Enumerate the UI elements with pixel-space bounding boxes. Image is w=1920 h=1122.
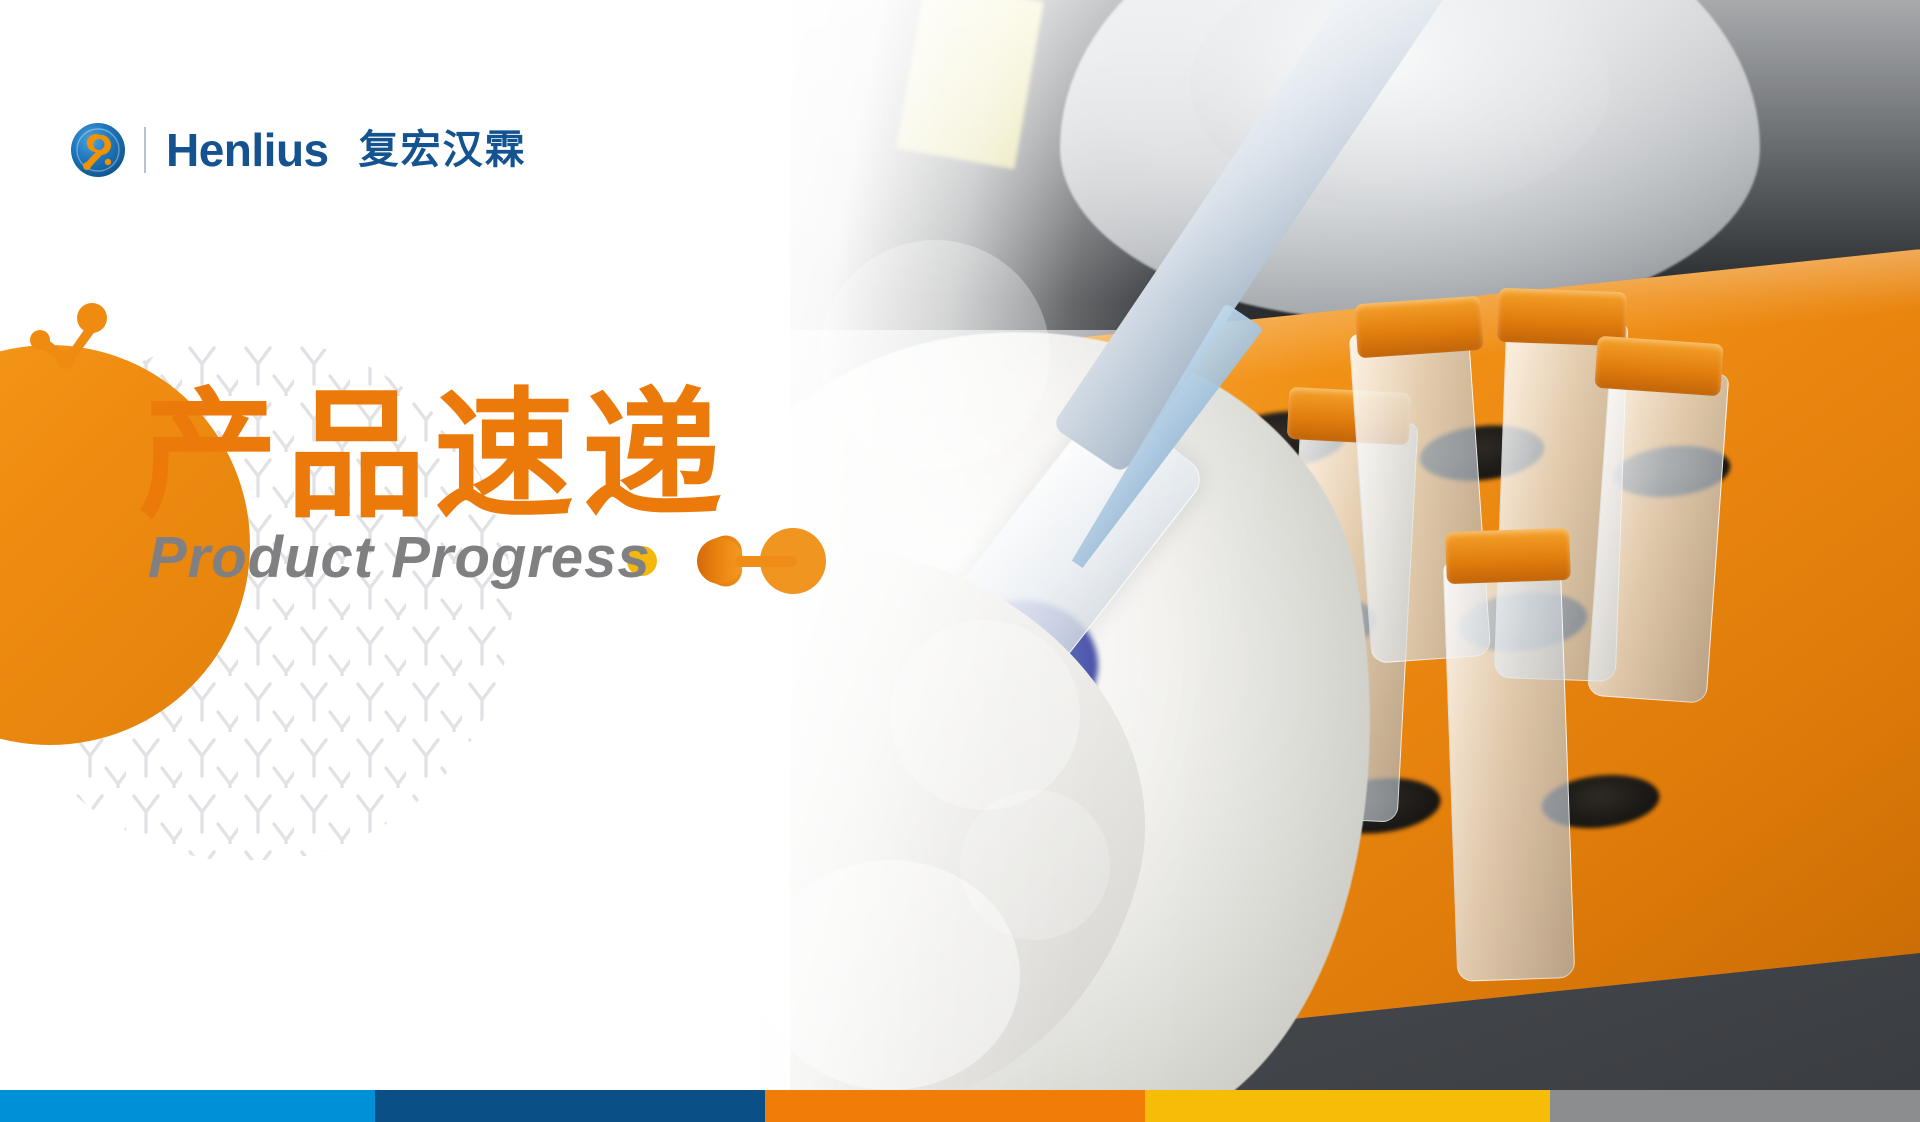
molecule-icon xyxy=(28,300,114,372)
lab-photo: Block xyxy=(760,0,1920,1090)
presentation-slide: Block xyxy=(0,0,1920,1122)
color-bar-segment xyxy=(1550,1090,1920,1122)
henlius-circle-mark-icon xyxy=(70,122,126,178)
bottom-color-bar xyxy=(0,1090,1920,1122)
color-bar-segment xyxy=(1145,1090,1550,1122)
logo-divider xyxy=(144,127,146,173)
color-bar-segment xyxy=(375,1090,765,1122)
photo-top-fade xyxy=(760,0,1920,300)
molecule-icon xyxy=(697,528,827,594)
brand-logo[interactable]: Henlius 复宏汉霖 xyxy=(70,122,527,178)
logo-wordmark-cn: 复宏汉霖 xyxy=(359,130,527,170)
page-subtitle-en: Product Progress xyxy=(148,524,651,591)
logo-wordmark: Henlius xyxy=(166,127,329,173)
color-bar-segment xyxy=(0,1090,375,1122)
page-title-cn: 产品速递 xyxy=(138,378,730,535)
color-bar-segment xyxy=(765,1090,1145,1122)
